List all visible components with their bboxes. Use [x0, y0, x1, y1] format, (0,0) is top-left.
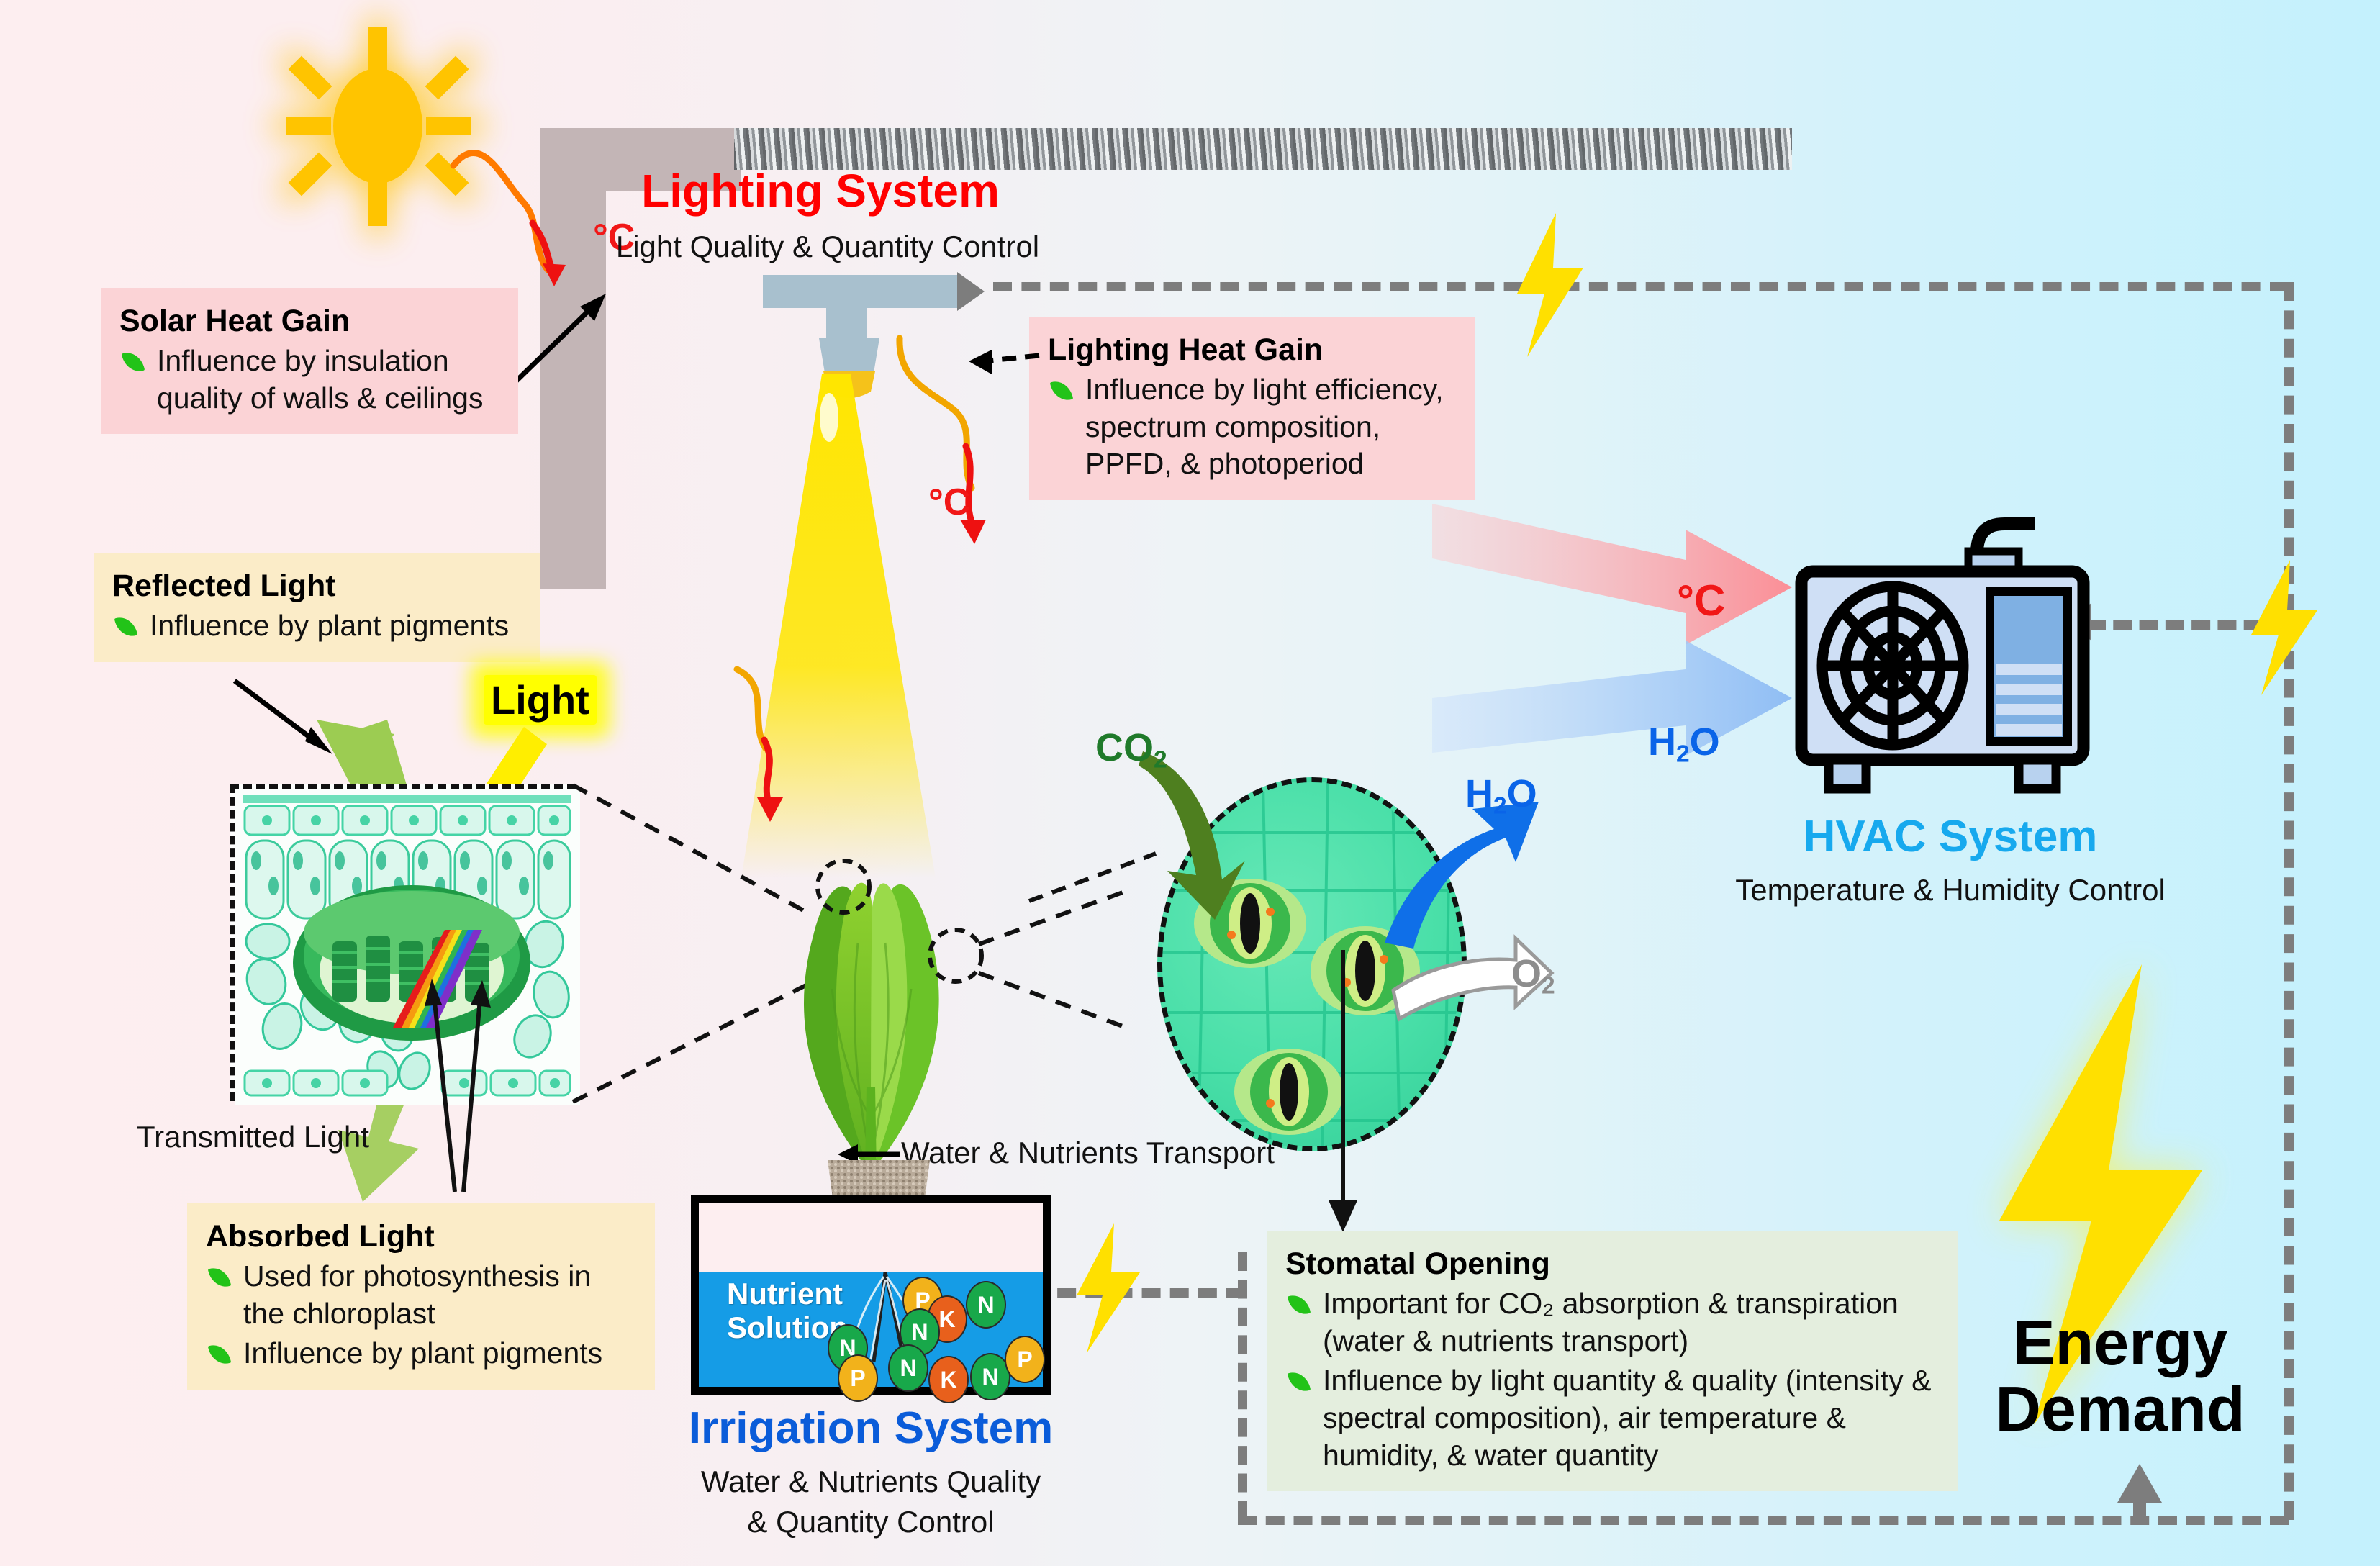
lamp-fixture [763, 275, 957, 308]
absorbed-light-pointers [425, 979, 554, 1195]
list-item: Influence by light quantity & quality (i… [1285, 1362, 1939, 1474]
lighting-system-subtitle: Light Quality & Quantity Control [605, 229, 1051, 265]
stomatal-opening-title: Stomatal Opening [1285, 1246, 1939, 1281]
lighting-heat-gain-pointer [950, 345, 1044, 374]
leaf-bullet-icon [1288, 1370, 1311, 1395]
stomatal-opening-bullet-1: Influence by light quantity & quality (i… [1323, 1364, 1932, 1471]
irrigation-system-subtitle-line2: & Quantity Control [648, 1504, 1094, 1540]
solar-heat-gain-box: Solar Heat Gain Influence by insulation … [101, 288, 518, 434]
power-bus-top [993, 282, 2289, 291]
leaf-bullet-icon [122, 349, 145, 374]
leaf-bullet-icon [1050, 378, 1073, 403]
co2-label: CO2 [1095, 725, 1167, 774]
heat-flow-degree-label: °C [1677, 576, 1725, 625]
lighting-heat-gain-bullet-0: Influence by light efficiency, spectrum … [1085, 373, 1444, 480]
energy-demand-arrow [2114, 1464, 2165, 1520]
ion-P: P [1005, 1336, 1045, 1383]
stomatal-opening-pointer [1323, 950, 1366, 1238]
lamp-connector-arrow [957, 272, 1003, 311]
irrigation-system-title: Irrigation System [662, 1405, 1080, 1452]
hvac-system-subtitle: Temperature & Humidity Control [1706, 872, 2195, 908]
hvac-system-title: HVAC System [1763, 813, 2137, 860]
nutrient-solution-line1: Nutrient [727, 1277, 848, 1311]
leaf-bullet-icon [208, 1264, 231, 1290]
heat-flow-arrow [1432, 504, 1806, 669]
transmitted-light-label: Transmitted Light [137, 1120, 369, 1154]
reflected-light-title: Reflected Light [112, 569, 521, 603]
stomatal-opening-bullet-0: Important for CO₂ absorption & transpira… [1323, 1287, 1899, 1357]
ion-N: N [966, 1281, 1006, 1329]
water-flow-h2o-label: H2O [1648, 720, 1720, 768]
hvac-unit-icon [1796, 511, 2098, 806]
irrigation-system-subtitle-line1: Water & Nutrients Quality [648, 1464, 1094, 1500]
power-bolt-irrigation-icon [1072, 1223, 1144, 1353]
reflected-light-box: Reflected Light Influence by plant pigme… [94, 553, 540, 662]
list-item: Influence by plant pigments [206, 1335, 636, 1372]
energy-demand-label: Energy Demand [1955, 1310, 2286, 1443]
list-item: Influence by plant pigments [112, 607, 521, 645]
diagram-canvas: °C Solar Heat Gain Influence by insulati… [0, 0, 2380, 1566]
list-item: Used for photosynthesis in the chloropla… [206, 1258, 636, 1332]
energy-demand-line2: Demand [1955, 1376, 2286, 1442]
ion-P: P [838, 1354, 878, 1402]
reflected-light-bullet-0: Influence by plant pigments [150, 609, 509, 642]
h2o-stomata-label: H2O [1465, 771, 1537, 820]
o2-label: O2 [1511, 951, 1555, 1000]
solar-heat-gain-bullet-0: Influence by insulation quality of walls… [157, 344, 483, 415]
light-tag-label: Light [484, 675, 597, 725]
leaf-bullet-icon [208, 1342, 231, 1367]
power-bolt-right-icon [2245, 560, 2325, 695]
stomatal-opening-box: Stomatal Opening Important for CO₂ absor… [1267, 1231, 1958, 1491]
list-item: Important for CO₂ absorption & transpira… [1285, 1285, 1939, 1359]
solar-heat-gain-title: Solar Heat Gain [119, 304, 499, 338]
nutrient-solution-label: Nutrient Solution [727, 1277, 848, 1344]
absorbed-light-bullet-1: Influence by plant pigments [243, 1336, 602, 1370]
co2-callout-line [1029, 849, 1159, 907]
list-item: Influence by light efficiency, spectrum … [1048, 371, 1457, 483]
lighting-heat-gain-title: Lighting Heat Gain [1048, 332, 1457, 367]
lighting-heat-gain-box: Lighting Heat Gain Influence by light ef… [1029, 317, 1475, 500]
absorbed-light-box: Absorbed Light Used for photosynthesis i… [187, 1203, 655, 1390]
ceiling-insulation [734, 128, 1792, 170]
lighting-system-title: Lighting System [619, 167, 1022, 215]
power-bolt-top-icon [1511, 213, 1591, 357]
lighting-heat-degree-label: °C [928, 481, 970, 524]
energy-demand-line1: Energy [1955, 1310, 2286, 1376]
ion-K: K [928, 1356, 969, 1403]
leaf-bullet-icon [1288, 1292, 1311, 1317]
list-item: Influence by insulation quality of walls… [119, 343, 499, 417]
absorbed-light-bullet-0: Used for photosynthesis in the chloropla… [243, 1259, 591, 1330]
leaf-bullet-icon [114, 614, 137, 639]
absorbed-light-title: Absorbed Light [206, 1219, 636, 1254]
ion-N: N [888, 1344, 928, 1392]
